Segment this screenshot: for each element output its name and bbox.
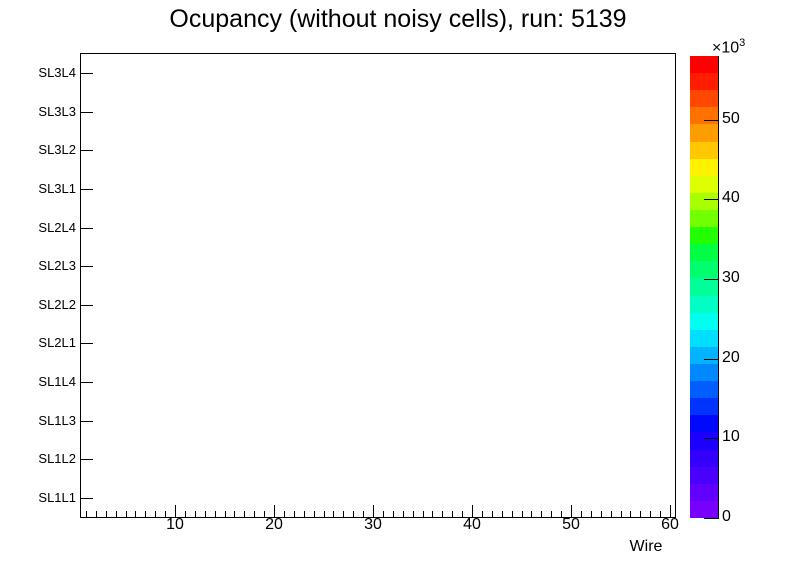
palette-tick — [704, 359, 718, 360]
x-axis-tick — [126, 511, 127, 518]
x-axis-tick — [205, 511, 206, 518]
x-axis-tick-label: 20 — [244, 516, 304, 534]
palette-band — [690, 192, 718, 210]
x-axis-tick — [512, 511, 513, 518]
x-axis-tick — [106, 511, 107, 518]
palette-band — [690, 346, 718, 364]
palette-tick-label: 30 — [722, 269, 740, 287]
x-axis-tick — [215, 511, 216, 518]
y-axis-tick — [80, 305, 93, 306]
palette-band — [690, 278, 718, 296]
y-axis-labels: SL3L4SL3L3SL3L2SL3L1SL2L4SL2L3SL2L2SL2L1… — [0, 0, 76, 572]
palette-band — [690, 56, 718, 73]
y-axis-tick — [80, 459, 93, 460]
y-axis-label-sl2l2: SL2L2 — [0, 298, 76, 311]
x-axis-tick — [423, 511, 424, 518]
x-axis-tick-label: 30 — [343, 516, 403, 534]
x-axis-title: Wire — [616, 538, 676, 556]
palette-band — [690, 312, 718, 330]
palette-band — [690, 398, 718, 416]
x-axis-tick — [531, 511, 532, 518]
palette-tick-label: 20 — [722, 349, 740, 367]
x-axis-tick — [135, 511, 136, 518]
y-axis-tick — [80, 382, 93, 383]
palette-band — [690, 295, 718, 313]
palette-band — [690, 415, 718, 433]
palette-band — [690, 244, 718, 262]
x-axis-tick-label: 40 — [442, 516, 502, 534]
palette-band — [690, 158, 718, 176]
y-axis-label-sl3l1: SL3L1 — [0, 182, 76, 195]
y-axis-label-sl1l4: SL1L4 — [0, 375, 76, 388]
x-axis-tick — [86, 511, 87, 518]
y-axis-tick — [80, 421, 93, 422]
x-axis-tick — [304, 511, 305, 518]
x-axis-tick — [324, 511, 325, 518]
x-axis-tick — [601, 511, 602, 518]
x-axis-tick — [621, 511, 622, 518]
palette-band — [690, 141, 718, 159]
y-axis-tick — [80, 112, 93, 113]
y-axis-tick — [80, 228, 93, 229]
x-axis-tick-label: 60 — [640, 516, 700, 534]
palette-band — [690, 227, 718, 245]
y-axis-label-sl3l2: SL3L2 — [0, 143, 76, 156]
chart-title: Ocupancy (without noisy cells), run: 513… — [0, 4, 796, 34]
y-axis-tick — [80, 266, 93, 267]
x-axis-tick — [630, 511, 631, 518]
x-axis-tick — [234, 511, 235, 518]
x-axis-tick — [522, 511, 523, 518]
y-axis-label-sl2l3: SL2L3 — [0, 259, 76, 272]
palette-tick — [704, 199, 718, 200]
palette-axis-line — [718, 56, 719, 519]
y-axis-tick — [80, 498, 93, 499]
x-axis-tick — [225, 511, 226, 518]
y-axis-tick — [80, 189, 93, 190]
palette-band — [690, 73, 718, 91]
y-axis-label-sl1l1: SL1L1 — [0, 491, 76, 504]
x-axis-tick — [413, 511, 414, 518]
y-axis-label-sl3l4: SL3L4 — [0, 66, 76, 79]
palette-band — [690, 107, 718, 125]
palette-band — [690, 209, 718, 227]
palette-band — [690, 261, 718, 279]
x-axis-tick — [403, 511, 404, 518]
palette-exponent-power: 3 — [739, 37, 745, 49]
y-axis-label-sl2l1: SL2L1 — [0, 336, 76, 349]
palette-band — [690, 466, 718, 484]
x-axis-tick — [314, 511, 315, 518]
palette-band — [690, 175, 718, 193]
x-axis-tick — [432, 511, 433, 518]
palette-tick — [704, 438, 718, 439]
palette-tick-label: 50 — [722, 110, 740, 128]
plot-frame — [80, 53, 676, 518]
x-axis-tick — [502, 511, 503, 518]
y-axis-tick — [80, 343, 93, 344]
y-axis-tick — [80, 73, 93, 74]
palette-band — [690, 381, 718, 399]
x-axis-tick-label: 10 — [145, 516, 205, 534]
y-axis-tick — [80, 150, 93, 151]
palette-band — [690, 449, 718, 467]
palette-tick-label: 40 — [722, 189, 740, 207]
palette-exponent-base: ×10 — [712, 39, 739, 56]
x-axis-tick — [333, 511, 334, 518]
palette-band — [690, 329, 718, 347]
color-palette-bar — [690, 56, 718, 518]
chart-canvas: Ocupancy (without noisy cells), run: 513… — [0, 0, 796, 572]
y-axis-label-sl2l4: SL2L4 — [0, 221, 76, 234]
x-axis-tick — [611, 511, 612, 518]
palette-tick-label: 0 — [722, 508, 731, 526]
x-axis-tick — [96, 511, 97, 518]
palette-tick-label: 10 — [722, 428, 740, 446]
palette-tick — [704, 120, 718, 121]
palette-band — [690, 124, 718, 142]
palette-tick — [704, 279, 718, 280]
palette-band — [690, 500, 718, 518]
palette-band — [690, 432, 718, 450]
y-axis-label-sl3l3: SL3L3 — [0, 105, 76, 118]
y-axis-label-sl1l2: SL1L2 — [0, 452, 76, 465]
palette-band — [690, 363, 718, 381]
palette-band — [690, 90, 718, 108]
x-axis-tick — [116, 511, 117, 518]
x-axis-tick-label: 50 — [541, 516, 601, 534]
y-axis-label-sl1l3: SL1L3 — [0, 414, 76, 427]
palette-band — [690, 483, 718, 501]
palette-tick — [704, 518, 718, 519]
palette-exponent-label: ×103 — [712, 34, 745, 57]
